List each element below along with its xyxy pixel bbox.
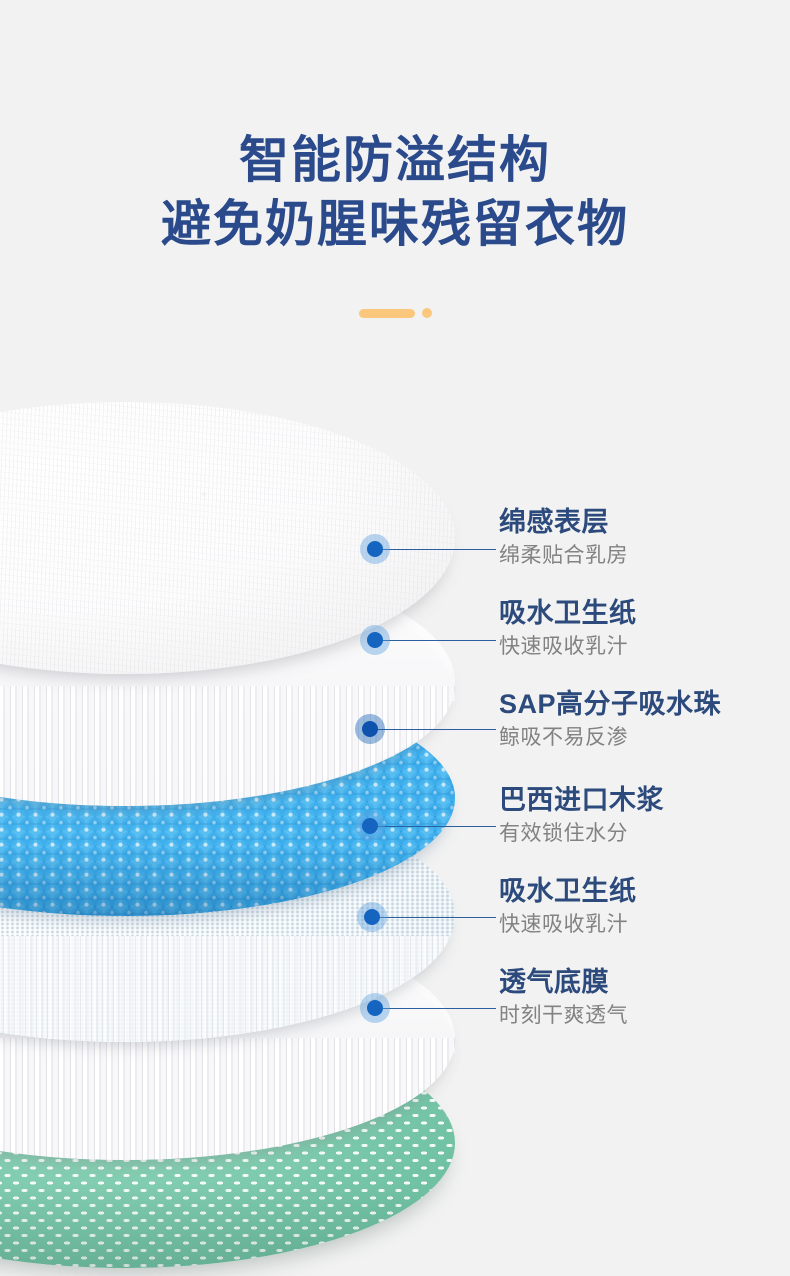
- callout-labels: 绵感表层 绵柔贴合乳房 吸水卫生纸 快速吸收乳汁 SAP高分子吸水珠 鲸吸不易反…: [499, 0, 790, 1276]
- callout-back-film: 透气底膜 时刻干爽透气: [499, 965, 628, 1031]
- wood-pulp-edge: [0, 936, 455, 1042]
- marker-dot-icon: [362, 818, 378, 834]
- marker-back-film[interactable]: [360, 993, 390, 1023]
- callout-top-sheet: 绵感表层 绵柔贴合乳房: [499, 505, 628, 571]
- marker-top-sheet[interactable]: [360, 534, 390, 564]
- leader-line-5: [378, 917, 496, 918]
- leader-line-6: [378, 1008, 496, 1009]
- callout-wood-pulp: 巴西进口木浆 有效锁住水分: [499, 783, 664, 849]
- marker-tissue-lower[interactable]: [357, 902, 387, 932]
- leader-line-4: [378, 826, 496, 827]
- callout-tissue-lower: 吸水卫生纸 快速吸收乳汁: [499, 874, 637, 940]
- callout-title: SAP高分子吸水珠: [499, 687, 721, 721]
- leader-line-2: [378, 640, 496, 641]
- marker-dot-icon: [364, 909, 380, 925]
- marker-tissue-upper[interactable]: [360, 625, 390, 655]
- callout-sap-beads: SAP高分子吸水珠 鲸吸不易反渗: [499, 687, 721, 753]
- marker-dot-icon: [362, 721, 378, 737]
- leader-line-3: [378, 729, 496, 730]
- layer-stack-illustration: [0, 360, 470, 1120]
- callout-tissue-upper: 吸水卫生纸 快速吸收乳汁: [499, 596, 637, 662]
- callout-subtitle: 快速吸收乳汁: [499, 632, 637, 662]
- marker-dot-icon: [367, 541, 383, 557]
- callout-title: 吸水卫生纸: [499, 874, 637, 908]
- marker-dot-icon: [367, 632, 383, 648]
- marker-wood-pulp[interactable]: [355, 811, 385, 841]
- marker-dot-icon: [367, 1000, 383, 1016]
- marker-sap-beads[interactable]: [355, 714, 385, 744]
- divider-bar: [359, 309, 415, 318]
- callout-subtitle: 鲸吸不易反渗: [499, 723, 721, 753]
- callout-subtitle: 时刻干爽透气: [499, 1001, 628, 1031]
- callout-title: 绵感表层: [499, 505, 628, 539]
- callout-subtitle: 有效锁住水分: [499, 819, 664, 849]
- callout-subtitle: 绵柔贴合乳房: [499, 541, 628, 571]
- divider-dot: [422, 308, 432, 318]
- callout-title: 吸水卫生纸: [499, 596, 637, 630]
- leader-line-1: [378, 549, 496, 550]
- callout-subtitle: 快速吸收乳汁: [499, 910, 637, 940]
- product-infographic-page: 智能防溢结构 避免奶腥味残留衣物: [0, 0, 790, 1276]
- callout-title: 透气底膜: [499, 965, 628, 999]
- callout-title: 巴西进口木浆: [499, 783, 664, 817]
